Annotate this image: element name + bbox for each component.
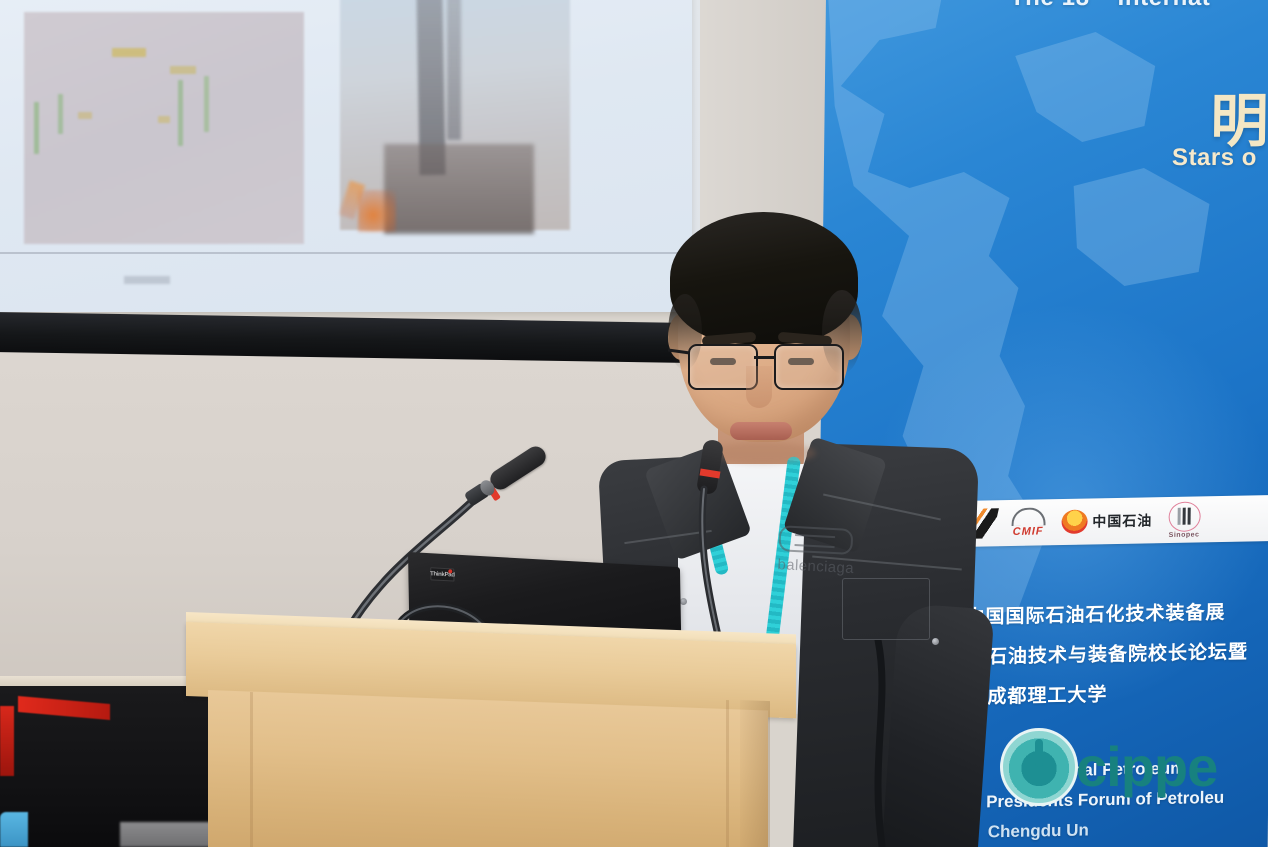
sinopec-logo: Sinopec	[1168, 501, 1200, 539]
slide-mark	[78, 112, 92, 119]
rig-mast-secondary	[447, 0, 461, 140]
sinopec-ring-icon	[1168, 501, 1200, 532]
slide-mark	[34, 102, 39, 154]
petrochina-logo: 中国石油	[1061, 508, 1152, 534]
rig-flare	[358, 190, 396, 232]
sinopec-logo-text: Sinopec	[1169, 531, 1200, 539]
slide-mark	[158, 116, 170, 123]
organiser-line-2: 石油技术与装备院校长论坛暨	[988, 637, 1248, 669]
host-line-2: Presidents Forum of Petroleu	[986, 788, 1224, 813]
rig-base	[384, 144, 534, 234]
nose	[746, 366, 772, 408]
podium-right-shading	[740, 700, 770, 847]
trailing-cable-svg	[856, 640, 926, 847]
jacket-button	[932, 638, 939, 645]
slide-panel-left	[24, 12, 304, 244]
organiser-line-1: 中国国际石油石化技术装备展	[965, 597, 1225, 629]
petrochina-sun-icon	[1061, 510, 1087, 534]
slide-mark	[112, 48, 146, 57]
slide-mark	[178, 80, 183, 146]
chin-shadow	[710, 442, 816, 464]
podium-body	[208, 690, 768, 847]
backdrop-title-rest: Internat	[1117, 0, 1210, 11]
screen-footer-mark	[124, 276, 170, 284]
slide-mark	[204, 76, 209, 132]
presentation-photo-scene: The 18th Internat 明 Stars o 单位 TED BY CM…	[0, 0, 1268, 847]
thinkpad-logo-dot-icon	[448, 569, 452, 573]
host-line-1: ternational Petroleum	[1010, 759, 1185, 782]
slide-mark	[58, 94, 63, 134]
podium-seam-right	[726, 700, 729, 847]
host-line-3: Chengdu Un	[988, 820, 1089, 842]
glasses-lens-right	[774, 344, 844, 390]
trailing-cable	[856, 640, 926, 847]
backdrop-title-main: The 18	[1010, 0, 1090, 11]
jacket-button	[680, 598, 687, 605]
blue-object	[0, 812, 28, 847]
petrochina-logo-text: 中国石油	[1092, 510, 1152, 531]
red-object-edge	[0, 706, 14, 776]
slide-mark	[170, 66, 196, 74]
podium-seam-left	[250, 692, 253, 847]
backdrop-title: The 18th Internat	[1010, 0, 1211, 12]
cmif-logo: CMIF	[1011, 507, 1045, 538]
cmif-logo-text: CMIF	[1013, 525, 1044, 538]
glasses-bridge	[754, 356, 776, 359]
mouth	[730, 422, 792, 440]
organiser-line-3: 成都理工大学	[987, 680, 1107, 709]
backdrop-subtitle: Stars o	[1172, 144, 1257, 172]
cmif-gear-icon	[1011, 507, 1045, 526]
